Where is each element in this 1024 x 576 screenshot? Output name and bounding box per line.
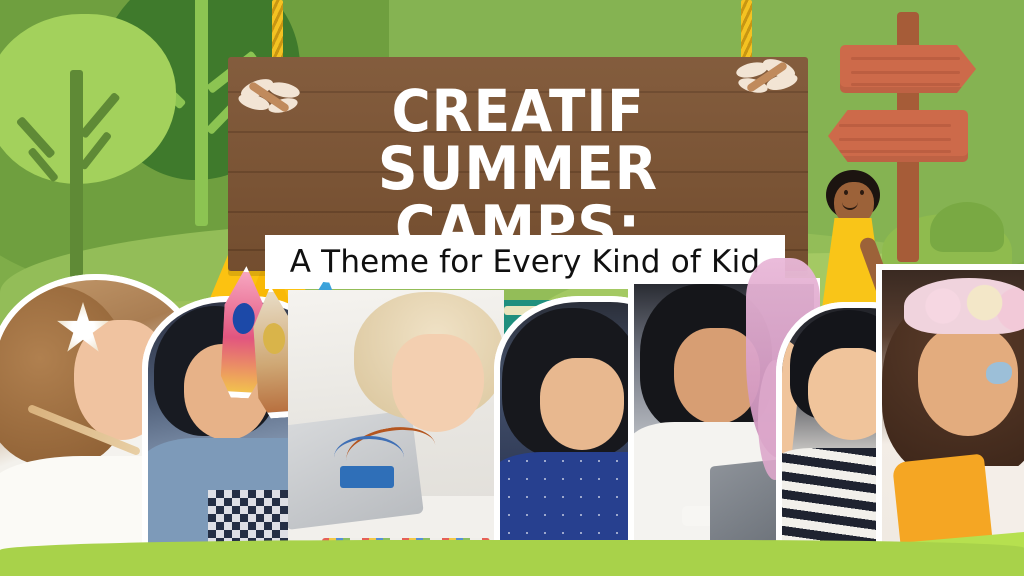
rope-right xyxy=(741,0,752,60)
signpost-arrow-right xyxy=(840,45,976,93)
photo-strip xyxy=(0,276,1024,576)
photo-girl-flower-crown xyxy=(876,264,1024,576)
grass-strip-bottom xyxy=(0,540,1024,576)
signpost-arrow-left xyxy=(828,110,968,162)
rope-left xyxy=(272,0,283,60)
subtitle-text: A Theme for Every Kind of Kid xyxy=(290,244,761,280)
light-tree-icon xyxy=(0,14,176,274)
photo-boy-electronics xyxy=(288,290,504,576)
page-title: CREATIF SUMMER CAMPS: xyxy=(251,83,785,257)
poster-canvas: CREATIF SUMMER CAMPS: A Theme for Every … xyxy=(0,0,1024,576)
